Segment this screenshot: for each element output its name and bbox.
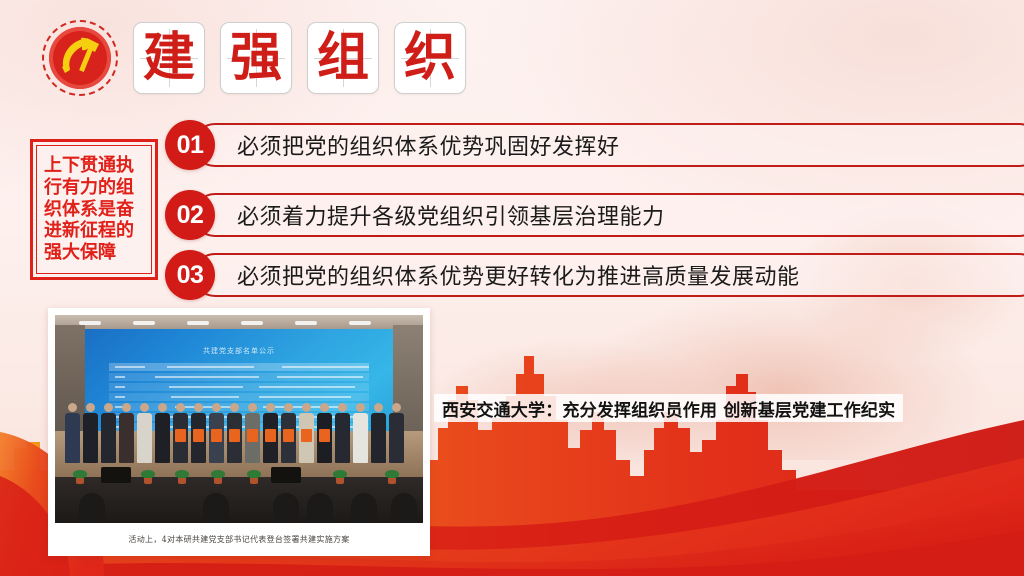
photo-audience [79, 493, 105, 523]
title-char: 组 [317, 32, 369, 84]
photo-speaker [271, 467, 301, 483]
title-char: 织 [404, 32, 456, 84]
slide-title: 建 强 组 织 [133, 22, 466, 94]
event-photo: 共建党支部名单公示 [55, 315, 423, 523]
screen-table-row [109, 363, 369, 371]
point-badge[interactable]: 01 [165, 120, 215, 170]
photo-audience [307, 493, 333, 523]
headline-text: 西安交通大学：充分发挥组织员作用 创新基层党建工作纪实 [442, 396, 895, 421]
slogan-inner-border: 上下贯通执 行有力的组 织体系是奋 进新征程的 强大保障 [36, 145, 152, 274]
photo-audience [273, 493, 299, 523]
photo-caption-text: 活动上，4对本研共建党支部书记代表登台签署共建实施方案 [128, 534, 349, 545]
photo-plant [73, 470, 87, 483]
photo-card[interactable]: 共建党支部名单公示 [48, 308, 430, 556]
title-char: 建 [143, 32, 195, 84]
photo-audience [351, 493, 377, 523]
photo-plant [175, 470, 189, 483]
slogan-line: 强大保障 [44, 242, 144, 264]
point-badge[interactable]: 03 [165, 250, 215, 300]
title-char: 强 [230, 32, 282, 84]
slogan-text: 上下贯通执 行有力的组 织体系是奋 进新征程的 强大保障 [44, 155, 144, 265]
title-char-box: 织 [394, 22, 466, 94]
point-text: 必须着力提升各级党组织引领基层治理能力 [237, 199, 665, 231]
photo-caption: 活动上，4对本研共建党支部书记代表登台签署共建实施方案 [55, 523, 423, 556]
slide-header: 建 强 组 织 [0, 0, 1024, 118]
photo-plant [141, 470, 155, 483]
party-emblem-icon [42, 20, 118, 96]
slide-canvas: 建 强 组 织 上下贯通执 行有力的组 织体系是奋 进新征程的 强大保障 [0, 0, 1024, 576]
slogan-line: 织体系是奋 [44, 199, 144, 221]
slogan-line: 行有力的组 [44, 177, 144, 199]
photo-plant [247, 470, 261, 483]
photo-plant [333, 470, 347, 483]
photo-audience [391, 493, 417, 523]
photo-audience [203, 493, 229, 523]
point-pill[interactable]: 必须着力提升各级党组织引领基层治理能力 [193, 193, 1024, 237]
point-number: 01 [177, 131, 204, 160]
slogan-box: 上下贯通执 行有力的组 织体系是奋 进新征程的 强大保障 [30, 139, 158, 280]
point-number: 02 [177, 201, 204, 230]
point-pill[interactable]: 必须把党的组织体系优势巩固好发挥好 [193, 123, 1024, 167]
headline-banner: 西安交通大学：充分发挥组织员作用 创新基层党建工作纪实 [434, 394, 903, 422]
point-number: 03 [177, 261, 204, 290]
point-pill[interactable]: 必须把党的组织体系优势更好转化为推进高质量发展动能 [193, 253, 1024, 297]
point-text: 必须把党的组织体系优势更好转化为推进高质量发展动能 [237, 259, 800, 291]
hammer-sickle-icon [57, 34, 103, 78]
title-char-box: 建 [133, 22, 205, 94]
title-char-box: 组 [307, 22, 379, 94]
photo-speaker [101, 467, 131, 483]
slogan-line: 上下贯通执 [44, 155, 144, 177]
photo-people-row [65, 389, 413, 463]
slogan-line: 进新征程的 [44, 220, 144, 242]
photo-plant [385, 470, 399, 483]
point-badge[interactable]: 02 [165, 190, 215, 240]
photo-plant [211, 470, 225, 483]
photo-ceiling-lights [79, 321, 399, 326]
title-char-box: 强 [220, 22, 292, 94]
point-text: 必须把党的组织体系优势巩固好发挥好 [237, 129, 620, 161]
screen-table-row [109, 373, 369, 381]
screen-title: 共建党支部名单公示 [85, 346, 393, 356]
